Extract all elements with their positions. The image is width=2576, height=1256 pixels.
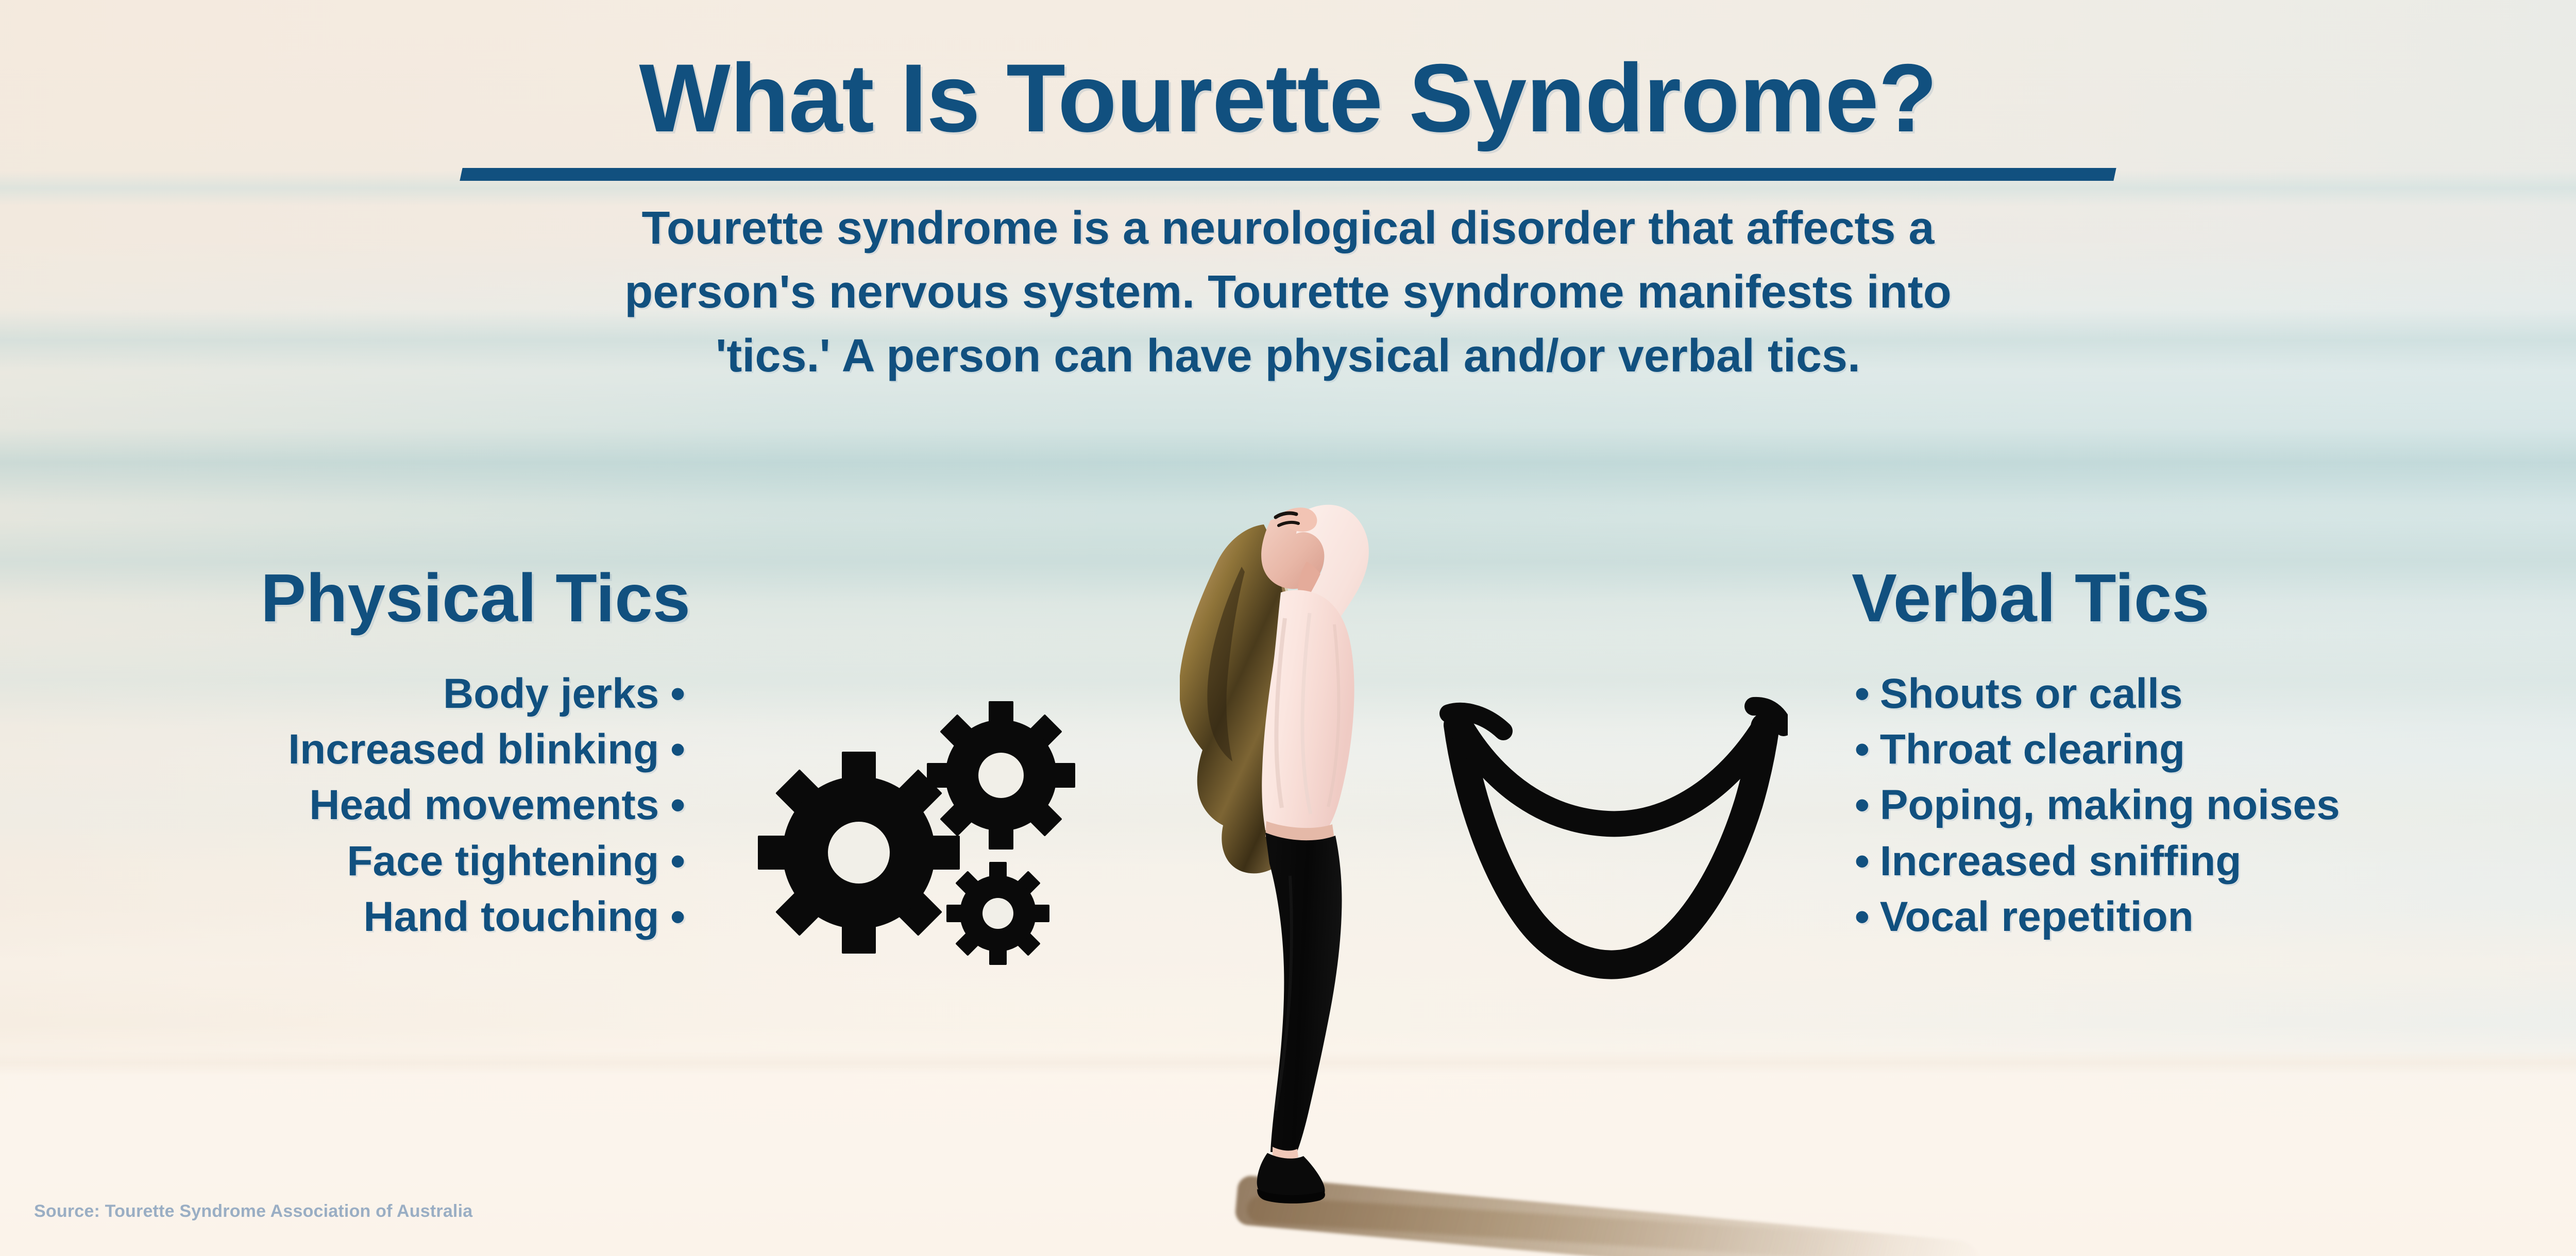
list-item: •Vocal repetition [1855, 889, 2499, 945]
list-item-label: Vocal repetition [1880, 893, 2194, 940]
subtitle-line: person's nervous system. Tourette syndro… [0, 260, 2576, 324]
physical-tics-list: Body jerks• Increased blinking• Head mov… [77, 666, 685, 945]
list-item-label: Increased sniffing [1880, 838, 2242, 885]
bullet-icon: • [670, 777, 685, 833]
title-underline [460, 168, 2116, 181]
header: What Is Tourette Syndrome? Tourette synd… [0, 0, 2576, 388]
list-item-label: Increased blinking [288, 726, 659, 773]
bullet-icon: • [670, 666, 685, 722]
list-item-label: Head movements [309, 782, 659, 828]
bullet-icon: • [1855, 777, 1870, 833]
list-item: Increased blinking• [77, 722, 685, 777]
list-item: Head movements• [77, 777, 685, 833]
bullet-icon: • [1855, 834, 1870, 889]
list-item-label: Face tightening [347, 838, 659, 885]
open-mouth-icon [1437, 693, 1788, 987]
verbal-tics-column: Verbal Tics •Shouts or calls •Throat cle… [1855, 564, 2499, 945]
woman-photo [1180, 484, 1422, 1206]
list-item-label: Poping, making noises [1880, 782, 2340, 828]
infographic-canvas: What Is Tourette Syndrome? Tourette synd… [0, 0, 2576, 1256]
subtitle-line: 'tics.' A person can have physical and/o… [0, 324, 2576, 388]
physical-tics-column: Physical Tics Body jerks• Increased blin… [77, 564, 685, 945]
bullet-icon: • [1855, 722, 1870, 777]
physical-tics-heading: Physical Tics [77, 564, 690, 632]
list-item-label: Throat clearing [1880, 726, 2185, 773]
list-item: •Throat clearing [1855, 722, 2499, 777]
bullet-icon: • [1855, 666, 1870, 722]
list-item: Body jerks• [77, 666, 685, 722]
list-item: Hand touching• [77, 889, 685, 945]
list-item-label: Hand touching [363, 893, 659, 940]
gears-icon [750, 683, 1079, 971]
list-item-label: Shouts or calls [1880, 670, 2183, 717]
verbal-tics-list: •Shouts or calls •Throat clearing •Popin… [1855, 666, 2499, 945]
bullet-icon: • [670, 834, 685, 889]
source-credit: Source: Tourette Syndrome Association of… [34, 1201, 472, 1221]
bullet-icon: • [670, 889, 685, 945]
page-title: What Is Tourette Syndrome? [0, 49, 2576, 146]
subtitle: Tourette syndrome is a neurological diso… [0, 196, 2576, 388]
bullet-icon: • [670, 722, 685, 777]
bullet-icon: • [1855, 889, 1870, 945]
list-item-label: Body jerks [443, 670, 659, 717]
list-item: •Increased sniffing [1855, 834, 2499, 889]
subtitle-line: Tourette syndrome is a neurological diso… [0, 196, 2576, 260]
list-item: Face tightening• [77, 834, 685, 889]
list-item: •Poping, making noises [1855, 777, 2499, 833]
verbal-tics-heading: Verbal Tics [1852, 564, 2499, 632]
list-item: •Shouts or calls [1855, 666, 2499, 722]
